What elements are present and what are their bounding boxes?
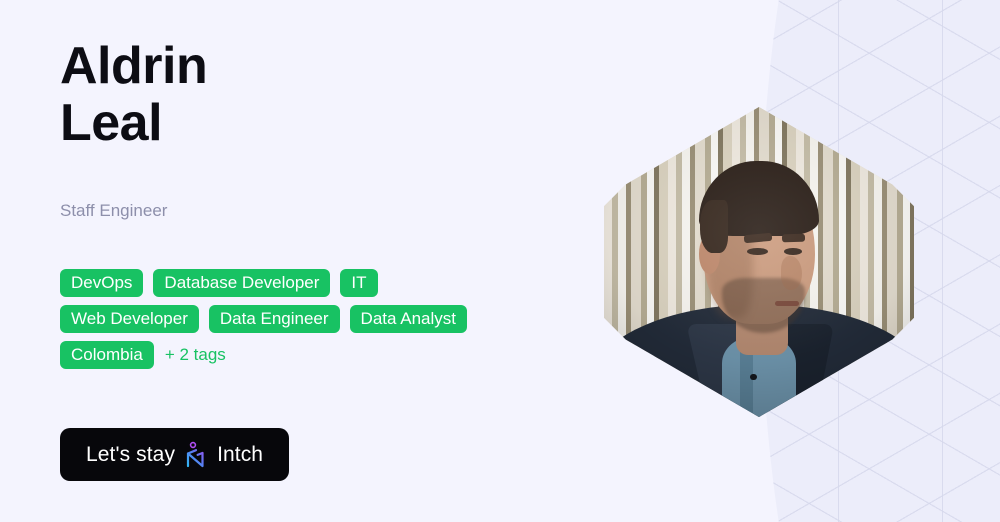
tag-web-developer[interactable]: Web Developer <box>60 305 199 333</box>
profile-role: Staff Engineer <box>60 198 167 224</box>
cta-label-after: Intch <box>217 443 263 467</box>
tag-devops[interactable]: DevOps <box>60 269 143 297</box>
tag-data-analyst[interactable]: Data Analyst <box>350 305 467 333</box>
cta-label-before: Let's stay <box>86 443 175 467</box>
tag-it[interactable]: IT <box>340 269 377 297</box>
tag-colombia[interactable]: Colombia <box>60 341 154 369</box>
profile-content: Aldrin Leal Staff Engineer DevOps Databa… <box>60 0 580 522</box>
intch-logo-icon <box>184 441 208 469</box>
profile-name: Aldrin Leal <box>60 38 207 152</box>
tag-data-engineer[interactable]: Data Engineer <box>209 305 340 333</box>
tag-database-developer[interactable]: Database Developer <box>153 269 330 297</box>
tag-list: DevOps Database Developer IT Web Develop… <box>60 269 520 369</box>
lets-stay-intch-button[interactable]: Let's stay Intch <box>60 428 289 481</box>
more-tags-link[interactable]: + 2 tags <box>164 341 226 369</box>
profile-card: Aldrin Leal Staff Engineer DevOps Databa… <box>0 0 1000 522</box>
